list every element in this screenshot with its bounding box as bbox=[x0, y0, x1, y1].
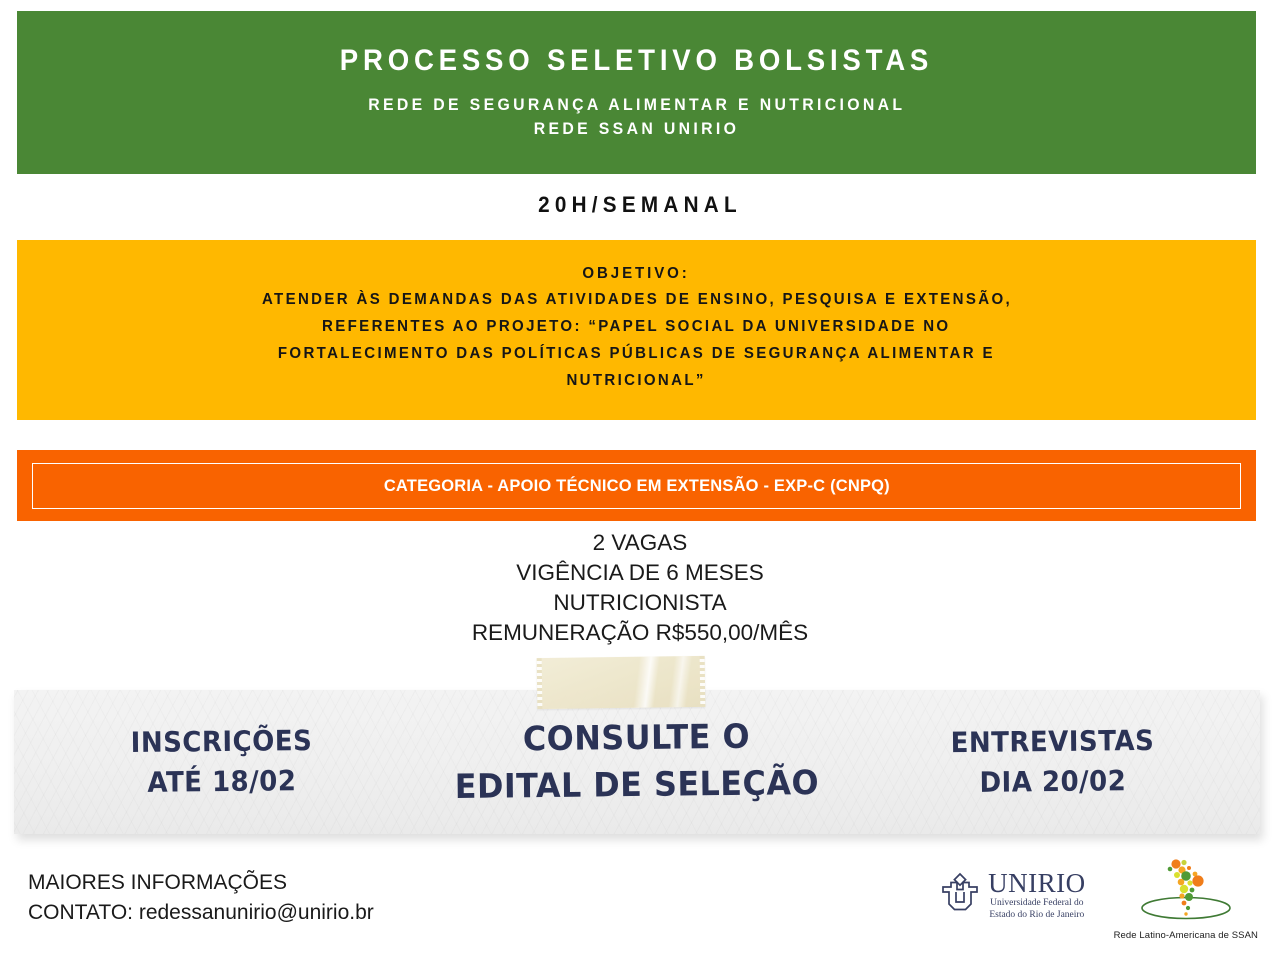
tape-shine bbox=[584, 656, 705, 709]
vacancy-details: 2 VAGAS VIGÊNCIA DE 6 MESES NUTRICIONIST… bbox=[0, 528, 1280, 649]
ssan-logo: Rede Latino-Americana de SSAN bbox=[1114, 858, 1258, 941]
edital-line-2: EDITAL DE SELEÇÃO bbox=[440, 760, 835, 811]
objective-heading: OBJETIVO: bbox=[583, 265, 690, 283]
category-banner-frame: CATEGORIA - APOIO TÉCNICO EM EXTENSÃO - … bbox=[32, 463, 1241, 509]
inscriptions-line-2: ATÉ 18/02 bbox=[29, 760, 416, 804]
inscriptions-block: INSCRIÇÕES ATÉ 18/02 bbox=[28, 720, 415, 804]
workload-label: 20H/SEMANAL bbox=[38, 192, 1241, 218]
poster-canvas: PROCESSO SELETIVO BOLSISTAS REDE DE SEGU… bbox=[0, 0, 1280, 961]
header-band: PROCESSO SELETIVO BOLSISTAS REDE DE SEGU… bbox=[17, 11, 1256, 174]
footer-contact-email: CONTATO: redessanunirio@unirio.br bbox=[28, 898, 374, 928]
page-title: PROCESSO SELETIVO BOLSISTAS bbox=[340, 44, 933, 77]
ssan-map-icon bbox=[1126, 911, 1246, 928]
detail-vagas: 2 VAGAS bbox=[0, 528, 1280, 558]
logo-row: UNIRIO Universidade Federal do Estado do… bbox=[938, 858, 1258, 941]
category-banner-text: CATEGORIA - APOIO TÉCNICO EM EXTENSÃO - … bbox=[383, 476, 889, 496]
unirio-tagline-line-2: Estado do Rio de Janeiro bbox=[988, 910, 1086, 921]
interviews-line-2: DIA 20/02 bbox=[859, 760, 1246, 804]
detail-vigencia: VIGÊNCIA DE 6 MESES bbox=[0, 558, 1280, 588]
unirio-tagline-line-1: Universidade Federal do bbox=[988, 898, 1086, 909]
edital-block: CONSULTE O EDITAL DE SELEÇÃO bbox=[439, 713, 834, 811]
unirio-logo: UNIRIO Universidade Federal do Estado do… bbox=[938, 870, 1086, 921]
masking-tape-icon bbox=[537, 656, 706, 709]
interviews-line-1: ENTREVISTAS bbox=[859, 720, 1246, 764]
objective-line-3: FORTALECIMENTO DAS POLÍTICAS PÚBLICAS DE… bbox=[278, 341, 995, 368]
ssan-caption: Rede Latino-Americana de SSAN bbox=[1114, 930, 1258, 941]
header-subtitle-line-1: REDE DE SEGURANÇA ALIMENTAR E NUTRICIONA… bbox=[368, 93, 905, 117]
objective-line-2: REFERENTES AO PROJETO: “PAPEL SOCIAL DA … bbox=[322, 314, 950, 341]
unirio-wordmark: UNIRIO Universidade Federal do Estado do… bbox=[988, 870, 1086, 921]
footer-contact: MAIORES INFORMAÇÕES CONTATO: redessanuni… bbox=[28, 868, 374, 928]
unirio-figure-icon bbox=[938, 871, 982, 920]
interviews-block: ENTREVISTAS DIA 20/02 bbox=[859, 720, 1246, 804]
objective-line-1: ATENDER ÀS DEMANDAS DAS ATIVIDADES DE EN… bbox=[261, 287, 1011, 314]
inscriptions-line-1: INSCRIÇÕES bbox=[28, 720, 415, 764]
objective-line-4: NUTRICIONAL” bbox=[567, 368, 706, 395]
edital-line-1: CONSULTE O bbox=[439, 713, 834, 764]
dates-paper-band: INSCRIÇÕES ATÉ 18/02 CONSULTE O EDITAL D… bbox=[14, 690, 1260, 834]
header-subtitle-line-2: REDE SSAN UNIRIO bbox=[534, 117, 740, 141]
footer-info-label: MAIORES INFORMAÇÕES bbox=[28, 868, 374, 898]
detail-cargo: NUTRICIONISTA bbox=[0, 588, 1280, 618]
detail-remuneracao: REMUNERAÇÃO R$550,00/MÊS bbox=[0, 618, 1280, 648]
objective-band: OBJETIVO: ATENDER ÀS DEMANDAS DAS ATIVID… bbox=[17, 240, 1256, 420]
unirio-name: UNIRIO bbox=[988, 870, 1086, 897]
category-band: CATEGORIA - APOIO TÉCNICO EM EXTENSÃO - … bbox=[17, 450, 1256, 521]
